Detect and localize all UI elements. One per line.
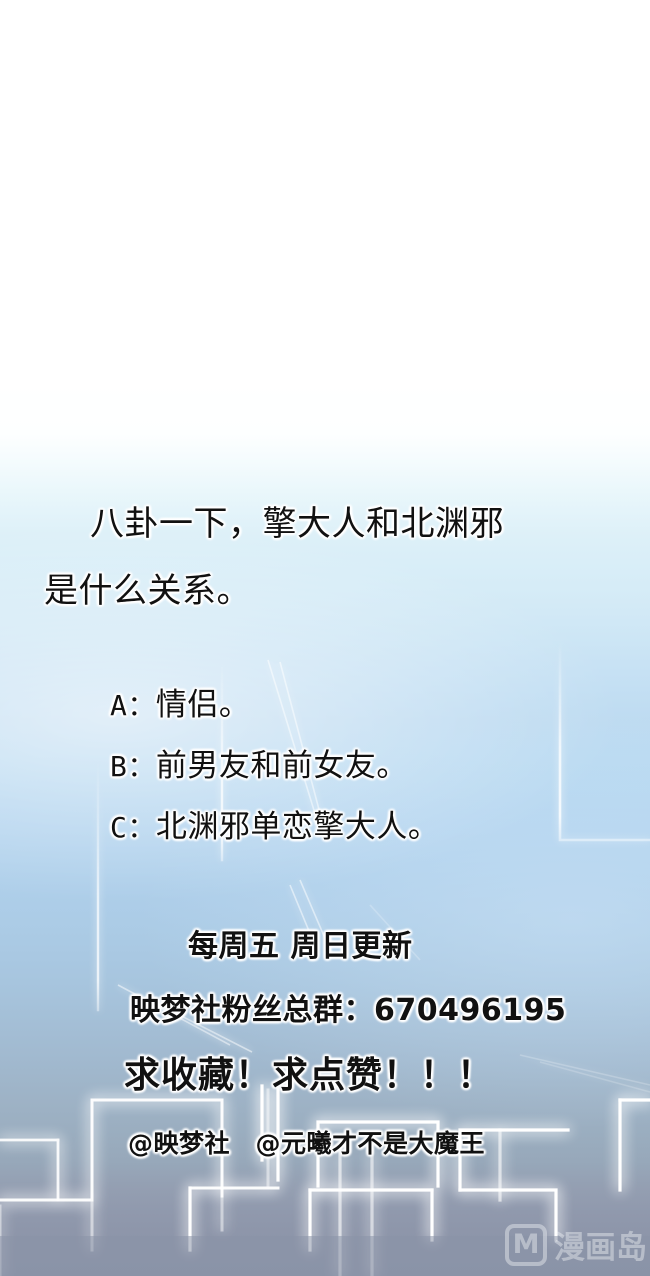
option-c-text: 北渊邪单恋擎大人。 (156, 809, 440, 845)
question-line-1: 八卦一下，擎大人和北渊邪 (90, 496, 504, 545)
author-credits: @映梦社 @元曦才不是大魔王 (128, 1124, 485, 1160)
option-b-text: 前男友和前女友。 (156, 748, 408, 784)
comic-panel: 八卦一下，擎大人和北渊邪 是什么关系。 A：情侣。 B：前男友和前女友。 C：北… (0, 0, 650, 1276)
update-schedule: 每周五 周日更新 (188, 921, 412, 965)
option-b: B：前男友和前女友。 (110, 740, 408, 785)
option-a-text: 情侣。 (156, 687, 251, 723)
manhuadao-logo-icon: M (505, 1224, 547, 1266)
option-c-key: C： (110, 811, 156, 844)
watermark-label: 漫画岛 (554, 1222, 647, 1267)
fan-group-line: 映梦社粉丝总群：670496195 (130, 985, 566, 1029)
option-a-key: A： (110, 689, 156, 722)
option-b-key: B： (110, 750, 156, 783)
option-c: C：北渊邪单恋擎大人。 (110, 801, 439, 846)
call-to-action: 求收藏！求点赞！！！ (124, 1046, 494, 1098)
option-a: A：情侣。 (110, 679, 250, 724)
site-watermark: M 漫画岛 (505, 1222, 647, 1267)
question-line-2: 是什么关系。 (44, 563, 251, 612)
